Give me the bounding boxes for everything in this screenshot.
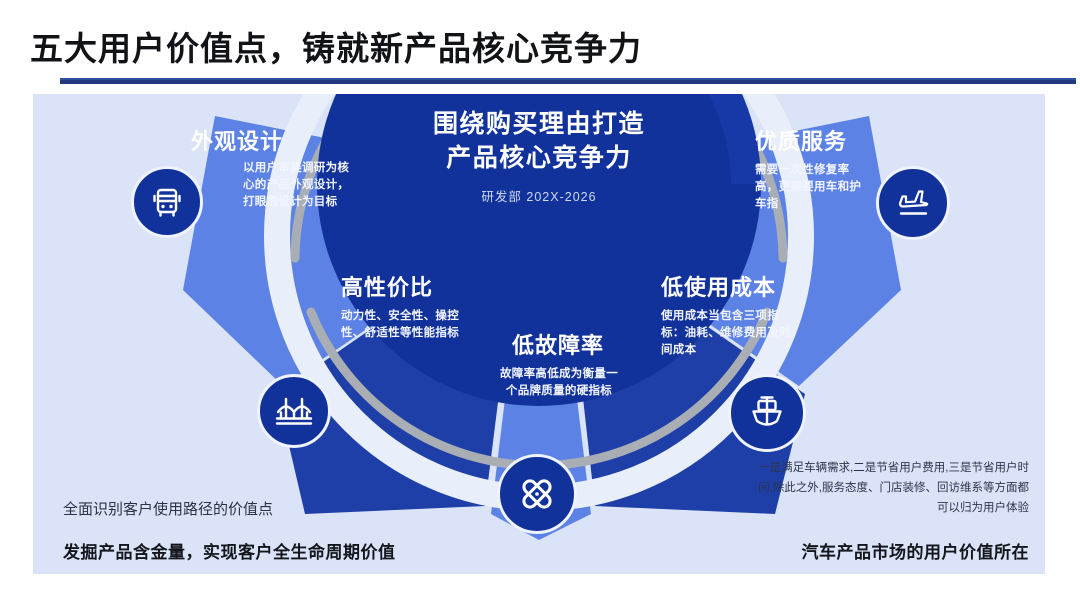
petal-label-appearance[interactable]: 外观设计 以用户审美调研为核心的产品外观设计，打眼的设计为目标	[191, 130, 361, 210]
petal-title-value: 高性价比	[283, 276, 473, 300]
hub-subtitle: 研发部 202X-2026	[389, 186, 689, 205]
slide-canvas: 五大用户价值点，铸就新产品核心竞争力	[0, 0, 1080, 608]
bridge-icon[interactable]	[257, 374, 331, 448]
petal-body-value: 动力性、安全性、操控性、舒适性等性能指标	[341, 308, 465, 341]
hub-line-2: 产品核心竞争力	[389, 142, 689, 176]
plaster-icon[interactable]	[497, 454, 577, 534]
hub-line-1: 围绕购买理由打造	[389, 108, 689, 142]
petal-body-cost: 使用成本当包含三项指标：油耗、维修费用及时间成本	[661, 308, 797, 358]
diagram-panel: 围绕购买理由打造 产品核心竞争力 研发部 202X-2026 外观设计 以用户审…	[33, 94, 1045, 574]
footer-left-headline: 发掘产品含金量，实现客户全生命周期价值	[63, 538, 396, 563]
petal-label-fault[interactable]: 低故障率 故障率高低成为衡量一个品牌质量的硬指标	[473, 334, 643, 400]
center-hub-text: 围绕购买理由打造 产品核心竞争力 研发部 202X-2026	[389, 108, 689, 205]
footer-right-note: 一是满足车辆需求,二是节省用户费用,三是节省用户时间,除此之外,服务态度、门店装…	[751, 458, 1029, 518]
ship-icon[interactable]	[728, 374, 806, 452]
petal-body-fault: 故障率高低成为衡量一个品牌质量的硬指标	[497, 366, 621, 399]
bus-icon[interactable]	[131, 166, 203, 238]
petal-label-value[interactable]: 高性价比 动力性、安全性、操控性、舒适性等性能指标	[283, 276, 473, 342]
footer-right-headline: 汽车产品市场的用户价值所在	[802, 538, 1030, 563]
petal-title-cost: 低使用成本	[623, 276, 833, 300]
petal-title-appearance: 外观设计	[191, 130, 361, 154]
page-title: 五大用户价值点，铸就新产品核心竞争力	[30, 22, 642, 70]
footer-left-note: 全面识别客户使用路径的价值点	[63, 498, 273, 521]
petal-title-fault: 低故障率	[473, 334, 643, 358]
petal-body-service: 需要一次性修复率高，更需要用车和护车指	[755, 162, 871, 212]
airplane-landing-icon[interactable]	[876, 166, 950, 240]
petal-label-cost[interactable]: 低使用成本 使用成本当包含三项指标：油耗、维修费用及时间成本	[623, 276, 833, 358]
title-rule	[60, 80, 1076, 84]
petal-body-appearance: 以用户审美调研为核心的产品外观设计，打眼的设计为目标	[243, 160, 351, 210]
petal-title-service: 优质服务	[733, 130, 913, 154]
